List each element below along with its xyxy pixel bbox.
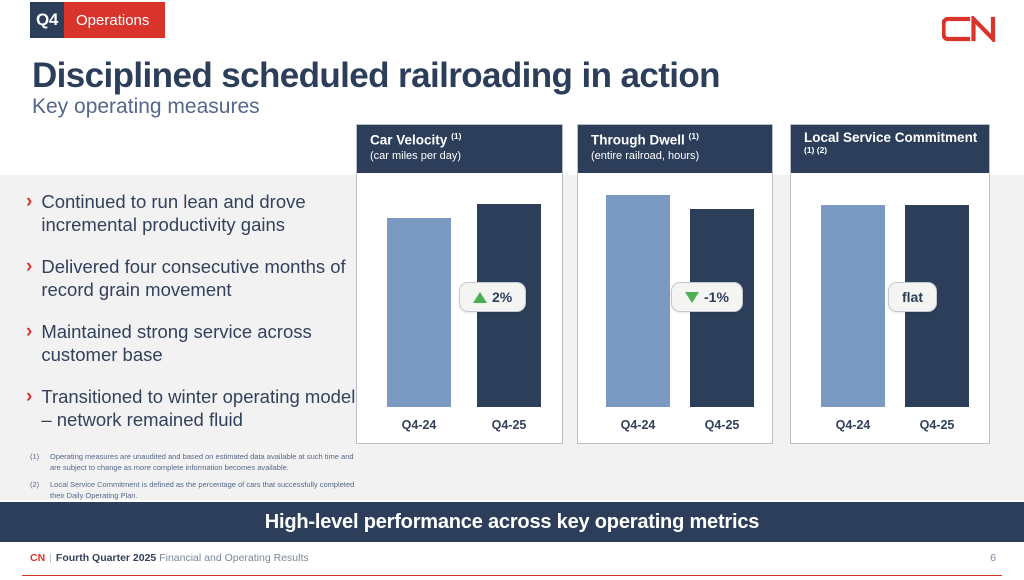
list-item-label: Delivered four consecutive months of rec… [41, 255, 356, 302]
list-item: › Continued to run lean and drove increm… [26, 190, 356, 237]
bar-category-label: Q4-24 [606, 418, 670, 432]
triangle-down-icon [685, 292, 699, 303]
chart-title: Car Velocity (1) [370, 132, 562, 148]
quarter-tag: Q4 Operations [30, 2, 165, 38]
chart-plot-area: 94% Q4-24 94% Q4-25 flat [791, 173, 989, 445]
chevron-right-icon: › [26, 320, 32, 367]
bar-group-prev: 94% Q4-24 [821, 173, 885, 445]
chart-panel-header: Through Dwell (1) (entire railroad, hour… [578, 125, 772, 173]
page-title: Disciplined scheduled railroading in act… [32, 56, 720, 96]
bar-group-prev: 7.1 Q4-24 [606, 173, 670, 445]
footer-report-name: Financial and Operating Results [159, 552, 308, 564]
list-item: › Maintained strong service across custo… [26, 320, 356, 367]
chevron-right-icon: › [26, 190, 32, 237]
footer-report-period: Fourth Quarter 2025 [56, 552, 156, 564]
chevron-right-icon: › [26, 255, 32, 302]
footer-brand: CN [30, 552, 45, 564]
summary-banner-text: High-level performance across key operat… [265, 511, 759, 534]
footnote-number: (2) [30, 480, 50, 501]
chart-title-footnote: (1) [689, 131, 699, 141]
bar-category-label: Q4-25 [905, 418, 969, 432]
delta-badge: -1% [671, 282, 743, 312]
chart-panel-header: Local Service Commitment (1) (2) [791, 125, 989, 173]
delta-badge: flat [888, 282, 937, 312]
footer-separator: | [49, 552, 52, 564]
footnote-text: Local Service Commitment is defined as t… [50, 480, 360, 501]
list-item: › Transitioned to winter operating model… [26, 385, 356, 432]
chart-title-footnote: (1) (2) [804, 145, 827, 155]
chart-panel-local-service-commitment: Local Service Commitment (1) (2) 94% Q4-… [790, 124, 990, 444]
bar-category-label: Q4-24 [387, 418, 451, 432]
list-item-label: Transitioned to winter operating model –… [41, 385, 356, 432]
list-item-label: Continued to run lean and drove incremen… [41, 190, 356, 237]
chart-title: Local Service Commitment (1) (2) [804, 130, 989, 162]
quarter-tag-quarter: Q4 [30, 2, 64, 38]
bar-prev [821, 205, 885, 407]
list-item: › Delivered four consecutive months of r… [26, 255, 356, 302]
delta-badge-label: -1% [704, 289, 729, 305]
chart-title-text: Car Velocity [370, 133, 447, 148]
quarter-tag-label: Operations [64, 2, 165, 38]
chart-subtitle: (entire railroad, hours) [591, 150, 772, 162]
chart-plot-area: 7.1 Q4-24 7.0 Q4-25 -1% [578, 173, 772, 445]
chart-subtitle: (car miles per day) [370, 150, 562, 162]
footer-divider [22, 575, 1002, 576]
bar-category-label: Q4-25 [477, 418, 541, 432]
footnote-number: (1) [30, 452, 50, 473]
footnote-item: (2) Local Service Commitment is defined … [30, 480, 360, 501]
delta-badge: 2% [459, 282, 526, 312]
footnote-item: (1) Operating measures are unaudited and… [30, 452, 360, 473]
chart-title: Through Dwell (1) [591, 132, 772, 148]
bar-prev [606, 195, 670, 407]
delta-badge-label: flat [902, 289, 923, 305]
chart-panel-header: Car Velocity (1) (car miles per day) [357, 125, 562, 173]
cn-logo [942, 16, 1000, 42]
chart-panel-through-dwell: Through Dwell (1) (entire railroad, hour… [577, 124, 773, 444]
delta-badge-label: 2% [492, 289, 512, 305]
chart-title-text: Local Service Commitment [804, 130, 977, 145]
list-item-label: Maintained strong service across custome… [41, 320, 356, 367]
key-points-list: › Continued to run lean and drove increm… [26, 190, 356, 450]
chart-title-text: Through Dwell [591, 133, 685, 148]
page-number: 6 [990, 552, 996, 564]
footnotes: (1) Operating measures are unaudited and… [30, 452, 360, 509]
bar-prev [387, 218, 451, 407]
footer-text-group: CN|Fourth Quarter 2025 Financial and Ope… [30, 552, 309, 564]
chart-title-footnote: (1) [451, 131, 461, 141]
bar-category-label: Q4-24 [821, 418, 885, 432]
bar-group-prev: 210 Q4-24 [387, 173, 451, 445]
footnote-text: Operating measures are unaudited and bas… [50, 452, 360, 473]
triangle-up-icon [473, 292, 487, 303]
page-subtitle: Key operating measures [32, 95, 260, 119]
bar-category-label: Q4-25 [690, 418, 754, 432]
slide-footer: CN|Fourth Quarter 2025 Financial and Ope… [0, 542, 1024, 580]
summary-banner: High-level performance across key operat… [0, 502, 1024, 542]
slide-canvas: Q4 Operations Disciplined scheduled rail… [0, 0, 1024, 580]
chart-panel-car-velocity: Car Velocity (1) (car miles per day) 210… [356, 124, 563, 444]
chart-plot-area: 210 Q4-24 215 Q4-25 2% [357, 173, 562, 445]
chevron-right-icon: › [26, 385, 32, 432]
